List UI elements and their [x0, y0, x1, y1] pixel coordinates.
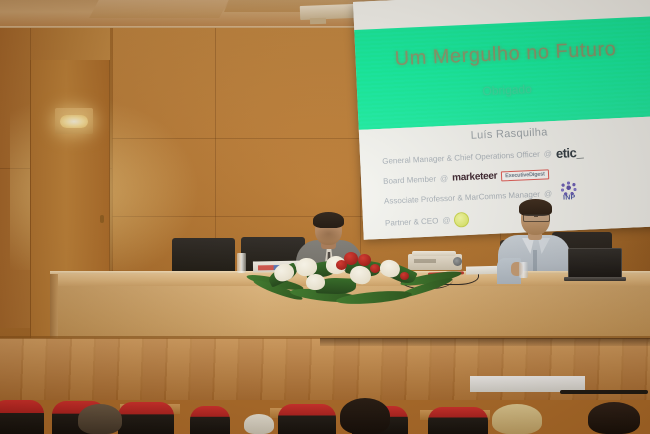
audience-seat — [428, 407, 488, 434]
at-symbol: @ — [544, 149, 553, 158]
empty-chair — [172, 238, 235, 275]
drinking-glass-right — [519, 262, 528, 278]
inp-logo-text: INP — [556, 193, 582, 201]
audience-head — [492, 404, 542, 434]
left-speaker-face-shading — [316, 228, 341, 242]
audience-seat — [0, 400, 44, 434]
audience-seat — [278, 404, 336, 434]
audience-head — [78, 404, 122, 434]
right-speaker-glasses-bridge — [534, 216, 538, 217]
door-knob[interactable] — [100, 215, 104, 223]
credential-role: Partner & CEO — [385, 216, 439, 227]
at-symbol: @ — [544, 189, 553, 198]
left-speaker-hair — [313, 212, 344, 228]
credential-role: Board Member — [383, 174, 436, 185]
audience-head — [340, 398, 390, 434]
slide-projection-noise — [354, 16, 650, 130]
auditorium-photo: Um Mergulho no Futuro Obrigado Luís Rasq… — [0, 0, 650, 434]
inp-logo: INP — [556, 180, 583, 205]
floral-arrangement — [250, 252, 460, 304]
marketeer-logo: marketeer — [452, 171, 498, 184]
etic-logo: etic_ — [556, 145, 584, 161]
ceiling-panel — [89, 0, 231, 18]
stage-shadow-strip — [320, 338, 650, 346]
credential-role: Associate Professor & MarComms Manager — [384, 190, 540, 206]
projection-screen: Um Mergulho no Futuro Obrigado Luís Rasq… — [353, 0, 650, 242]
audience-seat — [190, 406, 230, 434]
drinking-glass — [237, 253, 246, 273]
green-circle-logo — [454, 212, 470, 228]
laptop-base[interactable] — [564, 277, 626, 281]
executive-digest-logo: ExecutiveDigest — [501, 169, 549, 181]
audience-seating — [0, 392, 650, 434]
audience-head — [244, 414, 274, 434]
audience-head — [588, 402, 640, 434]
at-symbol: @ — [440, 174, 449, 183]
credential-role: General Manager & Chief Operations Offic… — [382, 150, 540, 166]
laptop-screen[interactable] — [568, 248, 622, 280]
screen-housing-bracket — [310, 18, 326, 25]
audience-seat — [118, 402, 174, 434]
at-symbol: @ — [442, 216, 451, 225]
wall-sconce-light-icon — [60, 115, 88, 128]
